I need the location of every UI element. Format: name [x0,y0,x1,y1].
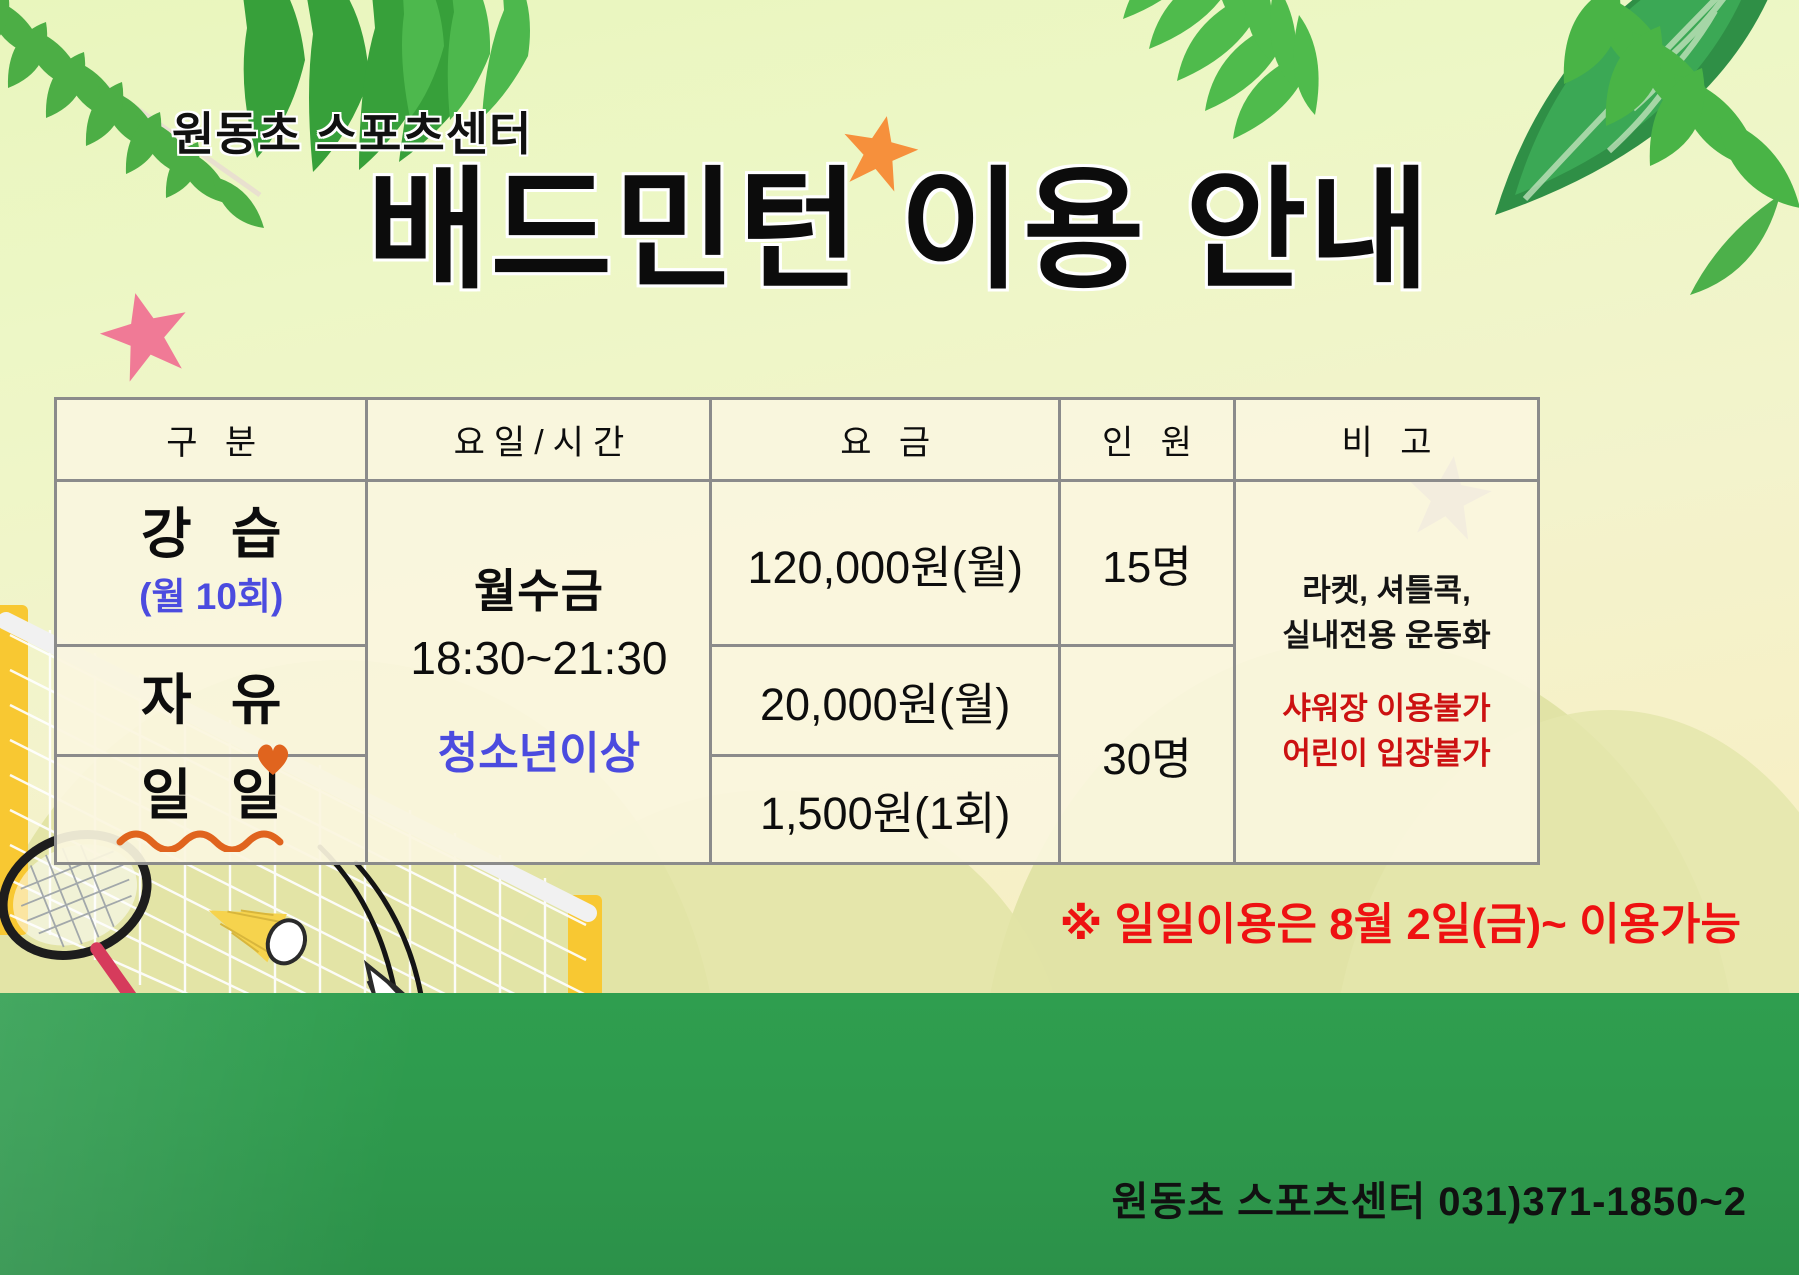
table-row: 강 습 (월 10회) 월수금 18:30~21:30 청소년이상 120,00… [56,481,1539,646]
fee-free: 20,000원(월) [760,679,1010,730]
rate-table: 구 분 요일/시간 요 금 인 원 비 고 강 습 (월 10회) [54,397,1540,865]
cell-remarks: 라켓, 셔틀콕, 실내전용 운동화 샤워장 이용불가 어린이 입장불가 [1234,481,1538,864]
star-pink-icon [98,288,194,389]
schedule-age-limit: 청소년이상 [368,722,709,786]
cell-category-lesson: 강 습 (월 10회) [56,481,367,646]
daily-use-notice: ※ 일일이용은 8월 2일(금)~ 이용가능 [1060,888,1741,952]
heart-icon [255,742,291,781]
column-header-schedule: 요일/시간 [367,399,711,481]
remarks-equipment-line1: 라켓, 셔틀콕, [1302,573,1470,608]
page-title: 배드민턴 이용 안내 [0,160,1799,303]
category-free-label: 자 유 [129,669,293,731]
schedule-days: 월수금 [474,565,604,617]
rate-table-wrapper: 구 분 요일/시간 요 금 인 원 비 고 강 습 (월 10회) [54,397,1540,862]
remarks-warning-line1: 샤워장 이용불가 [1282,691,1490,726]
cell-fee-daily: 1,500원(1회) [711,756,1060,864]
column-header-remarks: 비 고 [1234,399,1538,481]
cell-capacity-lesson: 15명 [1059,481,1234,646]
schedule-time: 18:30~21:30 [410,632,667,684]
category-lesson-sublabel: (월 10회) [139,566,283,620]
column-header-capacity: 인 원 [1059,399,1234,481]
floor-highlight [0,993,560,1275]
cell-category-daily: 일 일 [56,756,367,864]
remarks-equipment-line2: 실내전용 운동화 [1282,618,1490,653]
cell-fee-free: 20,000원(월) [711,646,1060,756]
cell-category-free: 자 유 [56,646,367,756]
center-name-subtitle: 원동초 스포츠센터 [172,98,532,164]
column-header-fee: 요 금 [711,399,1060,481]
remarks-warning: 샤워장 이용불가 어린이 입장불가 [1282,686,1490,777]
cell-fee-lesson: 120,000원(월) [711,481,1060,646]
poster-canvas: 원동초 스포츠센터 배드민턴 이용 안내 구 분 요일/시간 요 금 인 원 비… [0,0,1799,1275]
fee-lesson: 120,000원(월) [748,542,1023,593]
category-lesson-label: 강 습 [129,506,293,564]
fee-daily: 1,500원(1회) [760,788,1010,839]
contact-footer: 원동초 스포츠센터 031)371-1850~2 [1112,1169,1747,1227]
cell-schedule: 월수금 18:30~21:30 청소년이상 [367,481,711,864]
table-header-row: 구 분 요일/시간 요 금 인 원 비 고 [56,399,1539,481]
remarks-equipment: 라켓, 셔틀콕, 실내전용 운동화 [1282,568,1490,659]
capacity-lesson: 15명 [1102,543,1191,592]
squiggle-underline-icon [116,826,306,852]
column-header-category: 구 분 [56,399,367,481]
remarks-warning-line2: 어린이 입장불가 [1282,736,1490,771]
cell-capacity-shared: 30명 [1059,646,1234,864]
capacity-shared: 30명 [1102,735,1191,784]
court-floor [0,993,1799,1275]
